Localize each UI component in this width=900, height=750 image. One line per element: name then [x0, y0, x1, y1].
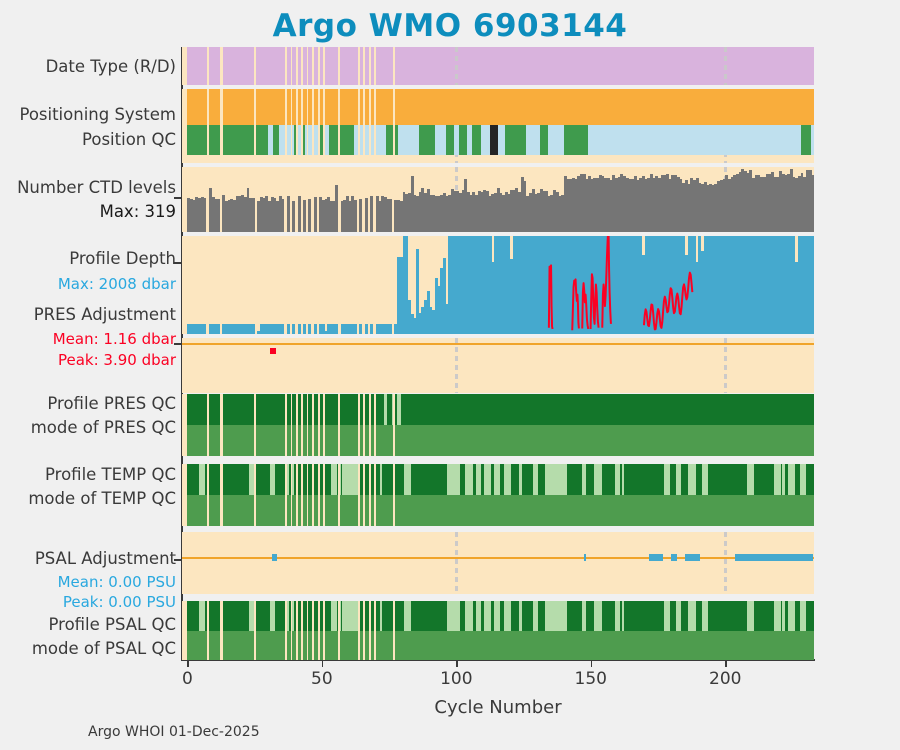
- ctd-level-bar: [308, 199, 311, 232]
- pres-trace-segment: [549, 265, 553, 329]
- position-qc-good-9: [329, 125, 355, 155]
- profile-qc-light-25: [774, 601, 781, 631]
- position-qc-good-17: [564, 125, 588, 155]
- profile-qc-light-8: [404, 601, 412, 631]
- ctd-level-bar: [370, 196, 373, 232]
- pres-adjustment-marker: [270, 348, 276, 354]
- qc-gap-16: [393, 394, 395, 456]
- xtick-label-0: 0: [182, 669, 193, 689]
- profile-qc-light-23: [702, 464, 708, 495]
- psal-adjustment-marker: [649, 554, 664, 561]
- psal-adjustment-marker: [735, 554, 813, 561]
- qc-gap-1: [220, 394, 223, 456]
- ctd-level-bar: [292, 201, 295, 232]
- position-qc-gap-7: [307, 125, 309, 155]
- page-title: Argo WMO 6903144: [0, 8, 900, 44]
- profile-qc-wide-light-2: [545, 464, 567, 495]
- qc-gap-2: [254, 464, 257, 526]
- profile-qc-light-24: [747, 464, 754, 495]
- profile-qc-light-22: [688, 601, 696, 631]
- gap-10: [323, 47, 325, 85]
- mode-qc-track: [187, 631, 814, 660]
- mode-qc-track: [187, 495, 814, 526]
- qc-gap-4: [291, 394, 293, 456]
- gap-13: [363, 89, 365, 125]
- profile-qc-wide-light-0: [342, 601, 358, 631]
- position-qc-gap-16: [393, 125, 395, 155]
- xtick-label-150: 150: [575, 669, 607, 689]
- profile-qc-light-14: [519, 464, 522, 495]
- gridline-200: [724, 338, 727, 393]
- qc-gap-12: [358, 394, 360, 456]
- qc-gap-9: [318, 394, 320, 456]
- pres-trace-segment: [644, 273, 692, 330]
- qc-gap-1: [220, 601, 223, 660]
- qc-gap-16: [393, 601, 395, 660]
- qc-gap-3: [285, 601, 287, 660]
- mode-qc-track: [187, 425, 814, 456]
- profile-qc-light-26: [782, 464, 785, 495]
- gap-3: [285, 47, 287, 85]
- profile-qc-light-12: [494, 601, 500, 631]
- gap-2: [254, 47, 257, 85]
- profile-qc-light-20: [664, 464, 669, 495]
- gap-1: [220, 47, 223, 85]
- position-qc-good-11: [419, 125, 435, 155]
- position-qc-gap-6: [301, 125, 303, 155]
- profile-qc-light-23: [702, 601, 708, 631]
- pres-trace-segment: [591, 274, 599, 329]
- qc-gap-2: [254, 601, 257, 660]
- profile-qc-light-10: [476, 464, 481, 495]
- qc-gap-11: [338, 464, 340, 526]
- qc-gap-15: [374, 464, 376, 526]
- profile-qc-wide-light-0: [342, 464, 358, 495]
- profile-qc-light-27: [788, 601, 795, 631]
- position-qc-bad: [490, 125, 498, 155]
- profile-qc-light-13: [504, 464, 511, 495]
- axis-label-pres_qc-1: mode of PRES QC: [31, 418, 176, 438]
- gap-14: [369, 47, 371, 85]
- panel-temp-qc: [182, 464, 814, 526]
- psal-zero-line: [182, 557, 814, 559]
- qc-gap-13: [363, 601, 365, 660]
- profile-qc-light-24: [747, 601, 754, 631]
- position-qc-good-7: [303, 125, 305, 155]
- panel-pres-qc: [182, 394, 814, 456]
- gap-16: [393, 89, 395, 125]
- gap-3: [285, 89, 287, 125]
- qc-gap-12: [358, 464, 360, 526]
- axis-label-positioning-0: Positioning System: [19, 105, 176, 125]
- qc-gap-11: [338, 601, 340, 660]
- profile-qc-light-28: [800, 464, 806, 495]
- qc-gap-6: [301, 394, 303, 456]
- position-qc-good-18: [801, 125, 812, 155]
- profile-qc-track: [187, 394, 814, 425]
- panel-pres-adjustment: [182, 338, 814, 393]
- profile-qc-light-17: [594, 601, 602, 631]
- qc-gap-2: [254, 394, 257, 456]
- gap-10: [323, 89, 325, 125]
- profile-qc-light-27: [788, 464, 795, 495]
- footer-credit: Argo WHOI 01-Dec-2025: [88, 724, 260, 740]
- position-qc-good-2: [223, 125, 254, 155]
- psal-adjustment-marker: [685, 554, 700, 561]
- pres-trace-segment: [602, 236, 611, 328]
- profile-qc-light-2: [270, 601, 275, 631]
- position-qc-gap-11: [338, 125, 340, 155]
- ctd-level-bar: [204, 198, 207, 233]
- qc-gap-6: [301, 464, 303, 526]
- gap-15: [374, 47, 376, 85]
- gap-12: [358, 89, 360, 125]
- gap-11: [338, 89, 340, 125]
- axis-label-profile_depth-1: Max: 2008 dbar: [58, 274, 176, 294]
- profile-qc-light-2: [397, 394, 401, 425]
- axis-label-pres_adjustment-2: Peak: 3.90 dbar: [58, 350, 176, 370]
- ctd-level-bar: [359, 199, 362, 232]
- ctd-level-bar: [217, 199, 220, 232]
- profile-qc-light-11: [484, 601, 491, 631]
- gap-16: [393, 47, 395, 85]
- gap-13: [363, 47, 365, 85]
- axis-label-positioning-1: Position QC: [82, 130, 176, 150]
- xtick-label-200: 200: [709, 669, 741, 689]
- position-qc-good-14: [472, 125, 480, 155]
- qc-gap-1: [220, 464, 223, 526]
- qc-gap-3: [285, 394, 287, 456]
- panel-ctd-levels: [182, 167, 814, 232]
- qc-gap-3: [285, 464, 287, 526]
- xtick-mark-50: [322, 660, 324, 667]
- axis-label-psal_qc-0: Profile PSAL QC: [48, 615, 176, 635]
- profile-qc-light-7: [380, 464, 382, 495]
- qc-gap-0: [207, 601, 209, 660]
- axis-label-date_type-0: Date Type (R/D): [46, 57, 176, 77]
- profile-qc-wide-light-2: [545, 601, 567, 631]
- ctd-levels-track: [182, 167, 814, 232]
- qc-gap-10: [323, 464, 325, 526]
- profile-qc-light-0: [199, 601, 206, 631]
- qc-gap-8: [312, 464, 314, 526]
- position-qc-gap-13: [363, 125, 365, 155]
- axis-label-temp_qc-0: Profile TEMP QC: [45, 465, 176, 485]
- profile-qc-track: [187, 464, 814, 495]
- qc-gap-0: [207, 464, 209, 526]
- ytick-pres: [174, 343, 182, 345]
- position-qc-gap-10: [323, 125, 325, 155]
- pres-trace-segment: [582, 283, 588, 329]
- qc-gap-7: [307, 601, 309, 660]
- ytick-psal: [174, 559, 182, 561]
- position-qc-good-12: [446, 125, 454, 155]
- panel-psal-adjustment: [182, 532, 814, 594]
- position-qc-good-3: [256, 125, 268, 155]
- profile-qc-track: [187, 601, 814, 631]
- pres-adjustment-trace: [182, 236, 814, 334]
- axis-label-pres_adjustment-0: PRES Adjustment: [34, 305, 176, 325]
- xtick-mark-100: [456, 660, 458, 667]
- position-qc-gap-4: [291, 125, 293, 155]
- profile-qc-light-15: [533, 601, 538, 631]
- position-qc-gap-15: [374, 125, 376, 155]
- profile-qc-light-8: [404, 464, 412, 495]
- gap-15: [374, 89, 376, 125]
- qc-gap-13: [363, 394, 365, 456]
- position-qc-gap-1: [220, 125, 223, 155]
- xtick-mark-0: [187, 660, 189, 667]
- profile-qc-light-13: [504, 601, 511, 631]
- axis-label-ctd_levels-0: Number CTD levels: [17, 178, 176, 198]
- gap-12: [358, 47, 360, 85]
- profile-qc-light-12: [494, 464, 500, 495]
- pres-zero-line: [182, 343, 814, 345]
- ctd-level-bar: [287, 196, 290, 232]
- position-qc-good-0: [187, 125, 207, 155]
- profile-qc-light-20: [664, 601, 669, 631]
- gap-7: [307, 89, 309, 125]
- panel-positioning: [182, 89, 814, 163]
- qc-gap-12: [358, 601, 360, 660]
- gridline-100: [455, 532, 458, 594]
- profile-qc-light-16: [582, 601, 586, 631]
- axis-label-psal_adjustment-2: Peak: 0.00 PSU: [63, 592, 176, 612]
- ytick-depth: [174, 262, 182, 264]
- profile-qc-light-9: [465, 464, 473, 495]
- profile-qc-light-16: [582, 464, 586, 495]
- position-qc-good-16: [540, 125, 548, 155]
- profile-qc-wide-light-1: [447, 464, 460, 495]
- profile-qc-light-18: [615, 601, 620, 631]
- qc-gap-8: [312, 394, 314, 456]
- positioning-track: [187, 89, 814, 125]
- psal-adjustment-marker: [584, 554, 586, 561]
- qc-gap-7: [307, 394, 309, 456]
- qc-gap-5: [296, 464, 298, 526]
- profile-qc-light-11: [484, 464, 491, 495]
- position-qc-gap-2: [254, 125, 257, 155]
- qc-gap-0: [207, 394, 209, 456]
- ctd-level-bar: [389, 199, 392, 232]
- position-qc-gap-0: [207, 125, 209, 155]
- qc-gap-9: [318, 601, 320, 660]
- qc-gap-10: [323, 394, 325, 456]
- axis-label-psal_adjustment-1: Mean: 0.00 PSU: [58, 572, 176, 592]
- profile-qc-light-18: [615, 464, 620, 495]
- position-qc-gap-9: [318, 125, 320, 155]
- position-qc-gap-14: [369, 125, 371, 155]
- profile-qc-light-21: [676, 464, 681, 495]
- ctd-level-bar: [252, 198, 255, 232]
- axis-label-pres_adjustment-1: Mean: 1.16 dbar: [53, 329, 176, 349]
- qc-gap-15: [374, 394, 376, 456]
- ctd-level-bar: [365, 198, 368, 232]
- position-qc-good-4: [273, 125, 279, 155]
- ctd-level-bar: [314, 197, 317, 232]
- profile-qc-light-19: [622, 464, 624, 495]
- axis-label-profile_depth-0: Profile Depth: [69, 249, 176, 269]
- profile-qc-light-26: [782, 601, 785, 631]
- position-qc-gap-3: [285, 125, 287, 155]
- psal-adjustment-marker: [671, 554, 677, 561]
- axis-label-ctd_levels-1: Max: 319: [100, 202, 176, 222]
- position-qc-gap-5: [296, 125, 298, 155]
- qc-gap-6: [301, 601, 303, 660]
- axis-label-psal_qc-1: mode of PSAL QC: [32, 639, 176, 659]
- gap-2: [254, 89, 257, 125]
- xtick-mark-150: [591, 660, 593, 667]
- profile-qc-light-14: [519, 601, 522, 631]
- axis-label-pres_qc-0: Profile PRES QC: [47, 394, 176, 414]
- qc-gap-13: [363, 464, 365, 526]
- pres-trace-segment: [572, 279, 579, 330]
- panel-psal-qc: [182, 601, 814, 660]
- panel-date-type: [182, 47, 814, 85]
- gap-0: [207, 89, 209, 125]
- ctd-level-bar: [335, 185, 338, 232]
- gap-8: [312, 89, 314, 125]
- gridline-200: [724, 532, 727, 594]
- gap-1: [220, 89, 223, 125]
- qc-gap-10: [323, 601, 325, 660]
- gridline-100: [455, 338, 458, 393]
- ctd-level-bar: [303, 200, 306, 232]
- profile-qc-light-2: [270, 464, 275, 495]
- x-axis-label: Cycle Number: [182, 697, 814, 718]
- qc-gap-7: [307, 464, 309, 526]
- profile-qc-light-5: [331, 464, 337, 495]
- profile-qc-light-9: [465, 601, 473, 631]
- qc-gap-8: [312, 601, 314, 660]
- axis-label-psal_adjustment-0: PSAL Adjustment: [35, 549, 176, 569]
- gap-5: [296, 47, 298, 85]
- ctd-level-bar: [282, 199, 285, 232]
- qc-gap-14: [369, 601, 371, 660]
- xtick-label-50: 50: [311, 669, 333, 689]
- profile-qc-light-17: [594, 464, 602, 495]
- qc-gap-5: [296, 601, 298, 660]
- gap-4: [291, 89, 293, 125]
- profile-qc-wide-light-1: [447, 601, 460, 631]
- profile-qc-light-21: [676, 601, 681, 631]
- date-type-track: [187, 47, 814, 85]
- gap-4: [291, 47, 293, 85]
- qc-gap-4: [291, 464, 293, 526]
- profile-qc-light-0: [384, 394, 387, 425]
- ytick-ctd: [174, 197, 182, 199]
- position-qc-gap-12: [358, 125, 360, 155]
- profile-qc-light-0: [199, 464, 206, 495]
- panel-profile-depth: [182, 236, 814, 334]
- gap-6: [301, 47, 303, 85]
- qc-gap-9: [318, 464, 320, 526]
- qc-gap-14: [369, 464, 371, 526]
- gap-9: [318, 47, 320, 85]
- psal-adjustment-marker: [272, 554, 277, 561]
- gap-5: [296, 89, 298, 125]
- qc-gap-15: [374, 601, 376, 660]
- ctd-level-bar: [354, 200, 357, 232]
- qc-gap-14: [369, 394, 371, 456]
- gap-9: [318, 89, 320, 125]
- profile-qc-light-19: [622, 601, 624, 631]
- xtick-label-100: 100: [440, 669, 472, 689]
- gap-14: [369, 89, 371, 125]
- profile-qc-light-25: [774, 464, 781, 495]
- ctd-level-bar: [298, 196, 301, 232]
- position-qc-track: [187, 125, 814, 155]
- position-qc-good-13: [459, 125, 467, 155]
- gap-7: [307, 47, 309, 85]
- xtick-mark-200: [725, 660, 727, 667]
- gap-6: [301, 89, 303, 125]
- profile-qc-light-7: [380, 601, 382, 631]
- qc-gap-4: [291, 601, 293, 660]
- position-qc-good-15: [505, 125, 527, 155]
- profile-qc-light-5: [331, 601, 337, 631]
- gap-0: [207, 47, 209, 85]
- qc-gap-5: [296, 394, 298, 456]
- qc-gap-16: [393, 464, 395, 526]
- gap-11: [338, 47, 340, 85]
- qc-gap-11: [338, 394, 340, 456]
- axis-label-temp_qc-1: mode of TEMP QC: [28, 489, 176, 509]
- profile-qc-light-22: [688, 464, 696, 495]
- profile-qc-light-28: [800, 601, 806, 631]
- ctd-level-bar: [811, 175, 814, 232]
- profile-qc-light-15: [533, 464, 538, 495]
- position-qc-gap-8: [312, 125, 314, 155]
- profile-qc-light-10: [476, 601, 481, 631]
- gap-8: [312, 47, 314, 85]
- position-qc-good-1: [209, 125, 219, 155]
